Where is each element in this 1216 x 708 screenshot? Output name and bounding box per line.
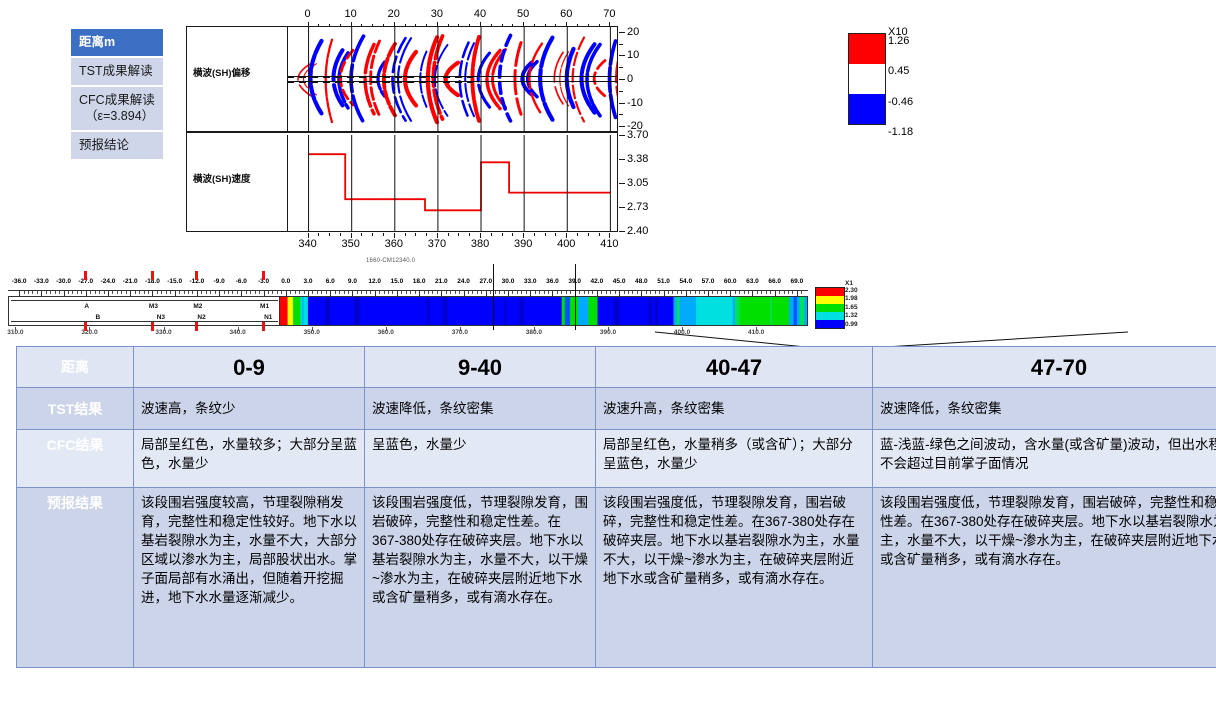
marker-label: B [96, 314, 101, 321]
legend-sidebar: 距离m TST成果解读 CFC成果解读 （ε=3.894） 预报结论 [71, 29, 163, 161]
reference-line [287, 82, 473, 83]
cfc-tick-label: 42.0 [591, 278, 604, 285]
velocity-curve [287, 135, 617, 231]
cfc-tick-label: -36.0 [12, 278, 27, 285]
table-row: CFC结果 局部呈红色，水量较多；大部分呈蓝色，水量少 呈蓝色，水量少 局部呈红… [17, 430, 1216, 488]
cfc-colorbar-tick-label: 1.98 [845, 295, 858, 302]
cfc-colorbar-labels: X12.301.981.651.320.99 [845, 280, 885, 336]
table-cell-cfc-3: 蓝-浅蓝-绿色之间波动，含水量(或含矿量)波动，但出水程度不会超过目前掌子面情况 [873, 430, 1216, 488]
axis-tick-label: 400 [557, 238, 575, 250]
cfc-tick-label: 69.0 [791, 278, 804, 285]
plot-right-axis: 20100-10-203.703.383.052.732.40 [619, 26, 665, 232]
section-divider [493, 264, 494, 330]
colorbar-tick-label: 0.45 [888, 65, 909, 77]
cfc-tick-label: 30.0 [502, 278, 515, 285]
cfc-colorbar-segment [816, 320, 844, 328]
row-header-cfc: CFC结果 [17, 430, 134, 488]
cfc-colormap-image [280, 297, 808, 325]
colorbar-tick-label: -1.18 [888, 126, 913, 138]
marker-label: M2 [193, 303, 202, 310]
colorbar-segment [849, 94, 885, 124]
marker-label: A [84, 303, 89, 310]
sidebar-item-label: CFC成果解读 [79, 93, 155, 107]
table-cell-cfc-0: 局部呈红色，水量较多；大部分呈蓝色，水量少 [134, 430, 365, 488]
axis-tick-label: 70 [603, 8, 615, 20]
marker-label: N3 [157, 314, 165, 321]
axis-tick-label: 340 [298, 238, 316, 250]
plot-bottom-axis: 340350360370380390400410 [186, 233, 618, 253]
plot-stamp: 1660-CM12340.0 [366, 258, 415, 264]
cfc-tick-label: 36.0 [546, 278, 559, 285]
cfc-colorbar-tick-label: 2.30 [845, 287, 858, 294]
cfc-tick-label: -9.0 [214, 278, 225, 285]
axis-tick-label: 30 [431, 8, 443, 20]
table-cell-cfc-1: 呈蓝色，水量少 [365, 430, 596, 488]
cfc-tick-label: 18.0 [413, 278, 426, 285]
cfc-tick-label: 48.0 [635, 278, 648, 285]
axis-tick-label: 0 [304, 8, 310, 20]
cfc-tick-label: 51.0 [657, 278, 670, 285]
axis-tick-label: 10 [627, 49, 639, 61]
migration-top-axis: 010203040506070 [186, 8, 618, 26]
colorbar-tick-label: 1.26 [888, 35, 909, 47]
axis-tick-label: 350 [341, 238, 359, 250]
axis-tick-label: 10 [345, 8, 357, 20]
cfc-colorbar-unit: X1 [845, 280, 853, 287]
axis-tick-label: 50 [517, 8, 529, 20]
axis-tick-label: 380 [471, 238, 489, 250]
cfc-tick-label: 60.0 [724, 278, 737, 285]
row-header-distance: 距离 [17, 347, 134, 388]
table-cell-distance-1: 9-40 [365, 347, 596, 388]
cfc-strip: -36.0-33.0-30.0-27.0-24.0-21.0-18.0-15.0… [8, 278, 808, 338]
marker-label: N2 [197, 314, 205, 321]
table-cell-distance-3: 47-70 [873, 347, 1216, 388]
cfc-bottom-tick-labels: 310.0320.0330.0340.0350.0360.0370.0380.0… [8, 327, 808, 339]
axis-tick-label: 2.73 [627, 201, 648, 213]
cfc-colorbar [815, 287, 845, 329]
cfc-colorbar-tick-label: 0.99 [845, 321, 858, 328]
table-cell-tst-0: 波速高，条纹少 [134, 388, 365, 430]
table-row: TST结果 波速高，条纹少 波速降低，条纹密集 波速升高，条纹密集 波速降低，条… [17, 388, 1216, 430]
cfc-tick-label: 12.0 [368, 278, 381, 285]
cfc-tick-label: -33.0 [34, 278, 49, 285]
velocity-panel: 横波(SH)速度 [187, 135, 617, 231]
cfc-colorbar-tick-label: 1.32 [845, 312, 858, 319]
cfc-tick-label: 21.0 [435, 278, 448, 285]
cfc-tick-label: 0.0 [281, 278, 290, 285]
axis-tick-label: 20 [627, 26, 639, 38]
axis-tick-label: 60 [560, 8, 572, 20]
sidebar-item-distance[interactable]: 距离m [71, 29, 163, 58]
sidebar-item-label: TST成果解读 [79, 64, 153, 78]
axis-tick-label: 360 [385, 238, 403, 250]
cfc-tick-label: 66.0 [768, 278, 781, 285]
table-cell-tst-1: 波速降低，条纹密集 [365, 388, 596, 430]
axis-tick-label: 3.05 [627, 177, 648, 189]
cfc-tick-label: 3.0 [303, 278, 312, 285]
cfc-colorbar-segment [816, 288, 844, 296]
colorbar-segment [849, 64, 885, 95]
cfc-colorbar-segment [816, 312, 844, 320]
migration-image [287, 27, 617, 131]
table-cell-tst-2: 波速升高，条纹密集 [596, 388, 873, 430]
cfc-top-tick-labels: -36.0-33.0-30.0-27.0-24.0-21.0-18.0-15.0… [8, 278, 808, 290]
cfc-image-box: AM3M2M1BN3N2N1 [8, 296, 808, 326]
sidebar-item-sublabel: （ε=3.894） [79, 108, 157, 124]
cfc-tick-label: 63.0 [746, 278, 759, 285]
cfc-tick-label: 57.0 [702, 278, 715, 285]
table-cell-forecast-1: 该段围岩强度低，节理裂隙发育，围岩破碎，完整性和稳定性差。在367-380处存在… [365, 488, 596, 668]
axis-tick-label: 3.70 [627, 129, 648, 141]
axis-tick-label: 40 [474, 8, 486, 20]
sidebar-item-cfc[interactable]: CFC成果解读 （ε=3.894） [71, 87, 163, 132]
amplitude-colorbar [848, 33, 886, 125]
axis-tick-label: -10 [627, 97, 643, 109]
table-cell-forecast-2: 该段围岩强度低，节理裂隙发育，围岩破碎，完整性和稳定性差。在367-380处存在… [596, 488, 873, 668]
table-cell-tst-3: 波速降低，条纹密集 [873, 388, 1216, 430]
row-header-forecast: 预报结果 [17, 488, 134, 668]
cfc-tick-label: 54.0 [679, 278, 692, 285]
cfc-colorbar-segment [816, 304, 844, 312]
cfc-tick-label: -6.0 [236, 278, 247, 285]
axis-tick-label: 2.40 [627, 225, 648, 237]
cfc-colorbar-tick-label: 1.65 [845, 304, 858, 311]
sidebar-item-conclusion[interactable]: 预报结论 [71, 132, 163, 161]
velocity-canvas [287, 135, 617, 231]
cfc-tick-label: -15.0 [167, 278, 182, 285]
marker-label: N1 [264, 314, 272, 321]
cfc-colorbar-segment [816, 296, 844, 304]
table-cell-forecast-0: 该段围岩强度较高，节理裂隙稍发育，完整性和稳定性较好。地下水以基岩裂隙水为主，水… [134, 488, 365, 668]
migration-canvas [287, 27, 617, 131]
axis-tick-label: 410 [600, 238, 618, 250]
cfc-tick-label: -30.0 [56, 278, 71, 285]
seismic-plot: 横波(SH)偏移 横波(SH)速度 [186, 26, 618, 232]
cfc-tick-label: 6.0 [326, 278, 335, 285]
colorbar-tick-label: -0.46 [888, 96, 913, 108]
table-cell-forecast-3: 该段围岩强度低，节理裂隙发育，围岩破碎，完整性和稳定性差。在367-380处存在… [873, 488, 1216, 668]
cfc-tick-label: 24.0 [457, 278, 470, 285]
section-divider [575, 264, 576, 330]
marker-label: M1 [260, 303, 269, 310]
migration-panel-label: 横波(SH)偏移 [193, 65, 251, 79]
cfc-tick-label: -24.0 [101, 278, 116, 285]
cfc-tick-label: 27.0 [479, 278, 492, 285]
table-row: 预报结果 该段围岩强度较高，节理裂隙稍发育，完整性和稳定性较好。地下水以基岩裂隙… [17, 488, 1216, 668]
cfc-tick-label: 45.0 [613, 278, 626, 285]
axis-tick-label: 3.38 [627, 153, 648, 165]
sidebar-item-tst[interactable]: TST成果解读 [71, 58, 163, 87]
table-cell-distance-2: 40-47 [596, 347, 873, 388]
tunnel-schematic: AM3M2M1BN3N2N1 [9, 297, 280, 325]
amplitude-colorbar-labels: X101.260.45-0.46-1.18 [886, 26, 946, 136]
cfc-tick-label: 33.0 [524, 278, 537, 285]
marker-label: M3 [149, 303, 158, 310]
cfc-tick-label: -21.0 [123, 278, 138, 285]
row-header-tst: TST结果 [17, 388, 134, 430]
sidebar-item-label: 距离m [79, 35, 115, 49]
sidebar-item-label: 预报结论 [79, 138, 129, 152]
migration-panel: 横波(SH)偏移 [187, 27, 617, 133]
interpretation-table: 距离 0-9 9-40 40-47 47-70 TST结果 波速高，条纹少 波速… [16, 346, 1216, 668]
table-cell-cfc-2: 局部呈红色，水量稍多（或含矿）；大部分呈蓝色，水量少 [596, 430, 873, 488]
colorbar-segment [849, 34, 885, 64]
axis-tick-label: 20 [388, 8, 400, 20]
table-row: 距离 0-9 9-40 40-47 47-70 [17, 347, 1216, 388]
table-cell-distance-0: 0-9 [134, 347, 365, 388]
cfc-tick-label: 9.0 [348, 278, 357, 285]
reference-line [287, 77, 473, 78]
cfc-tick-label: 15.0 [391, 278, 404, 285]
axis-tick-label: 0 [627, 73, 633, 85]
axis-tick-label: 390 [514, 238, 532, 250]
axis-tick-label: 370 [428, 238, 446, 250]
velocity-panel-label: 横波(SH)速度 [193, 171, 251, 185]
